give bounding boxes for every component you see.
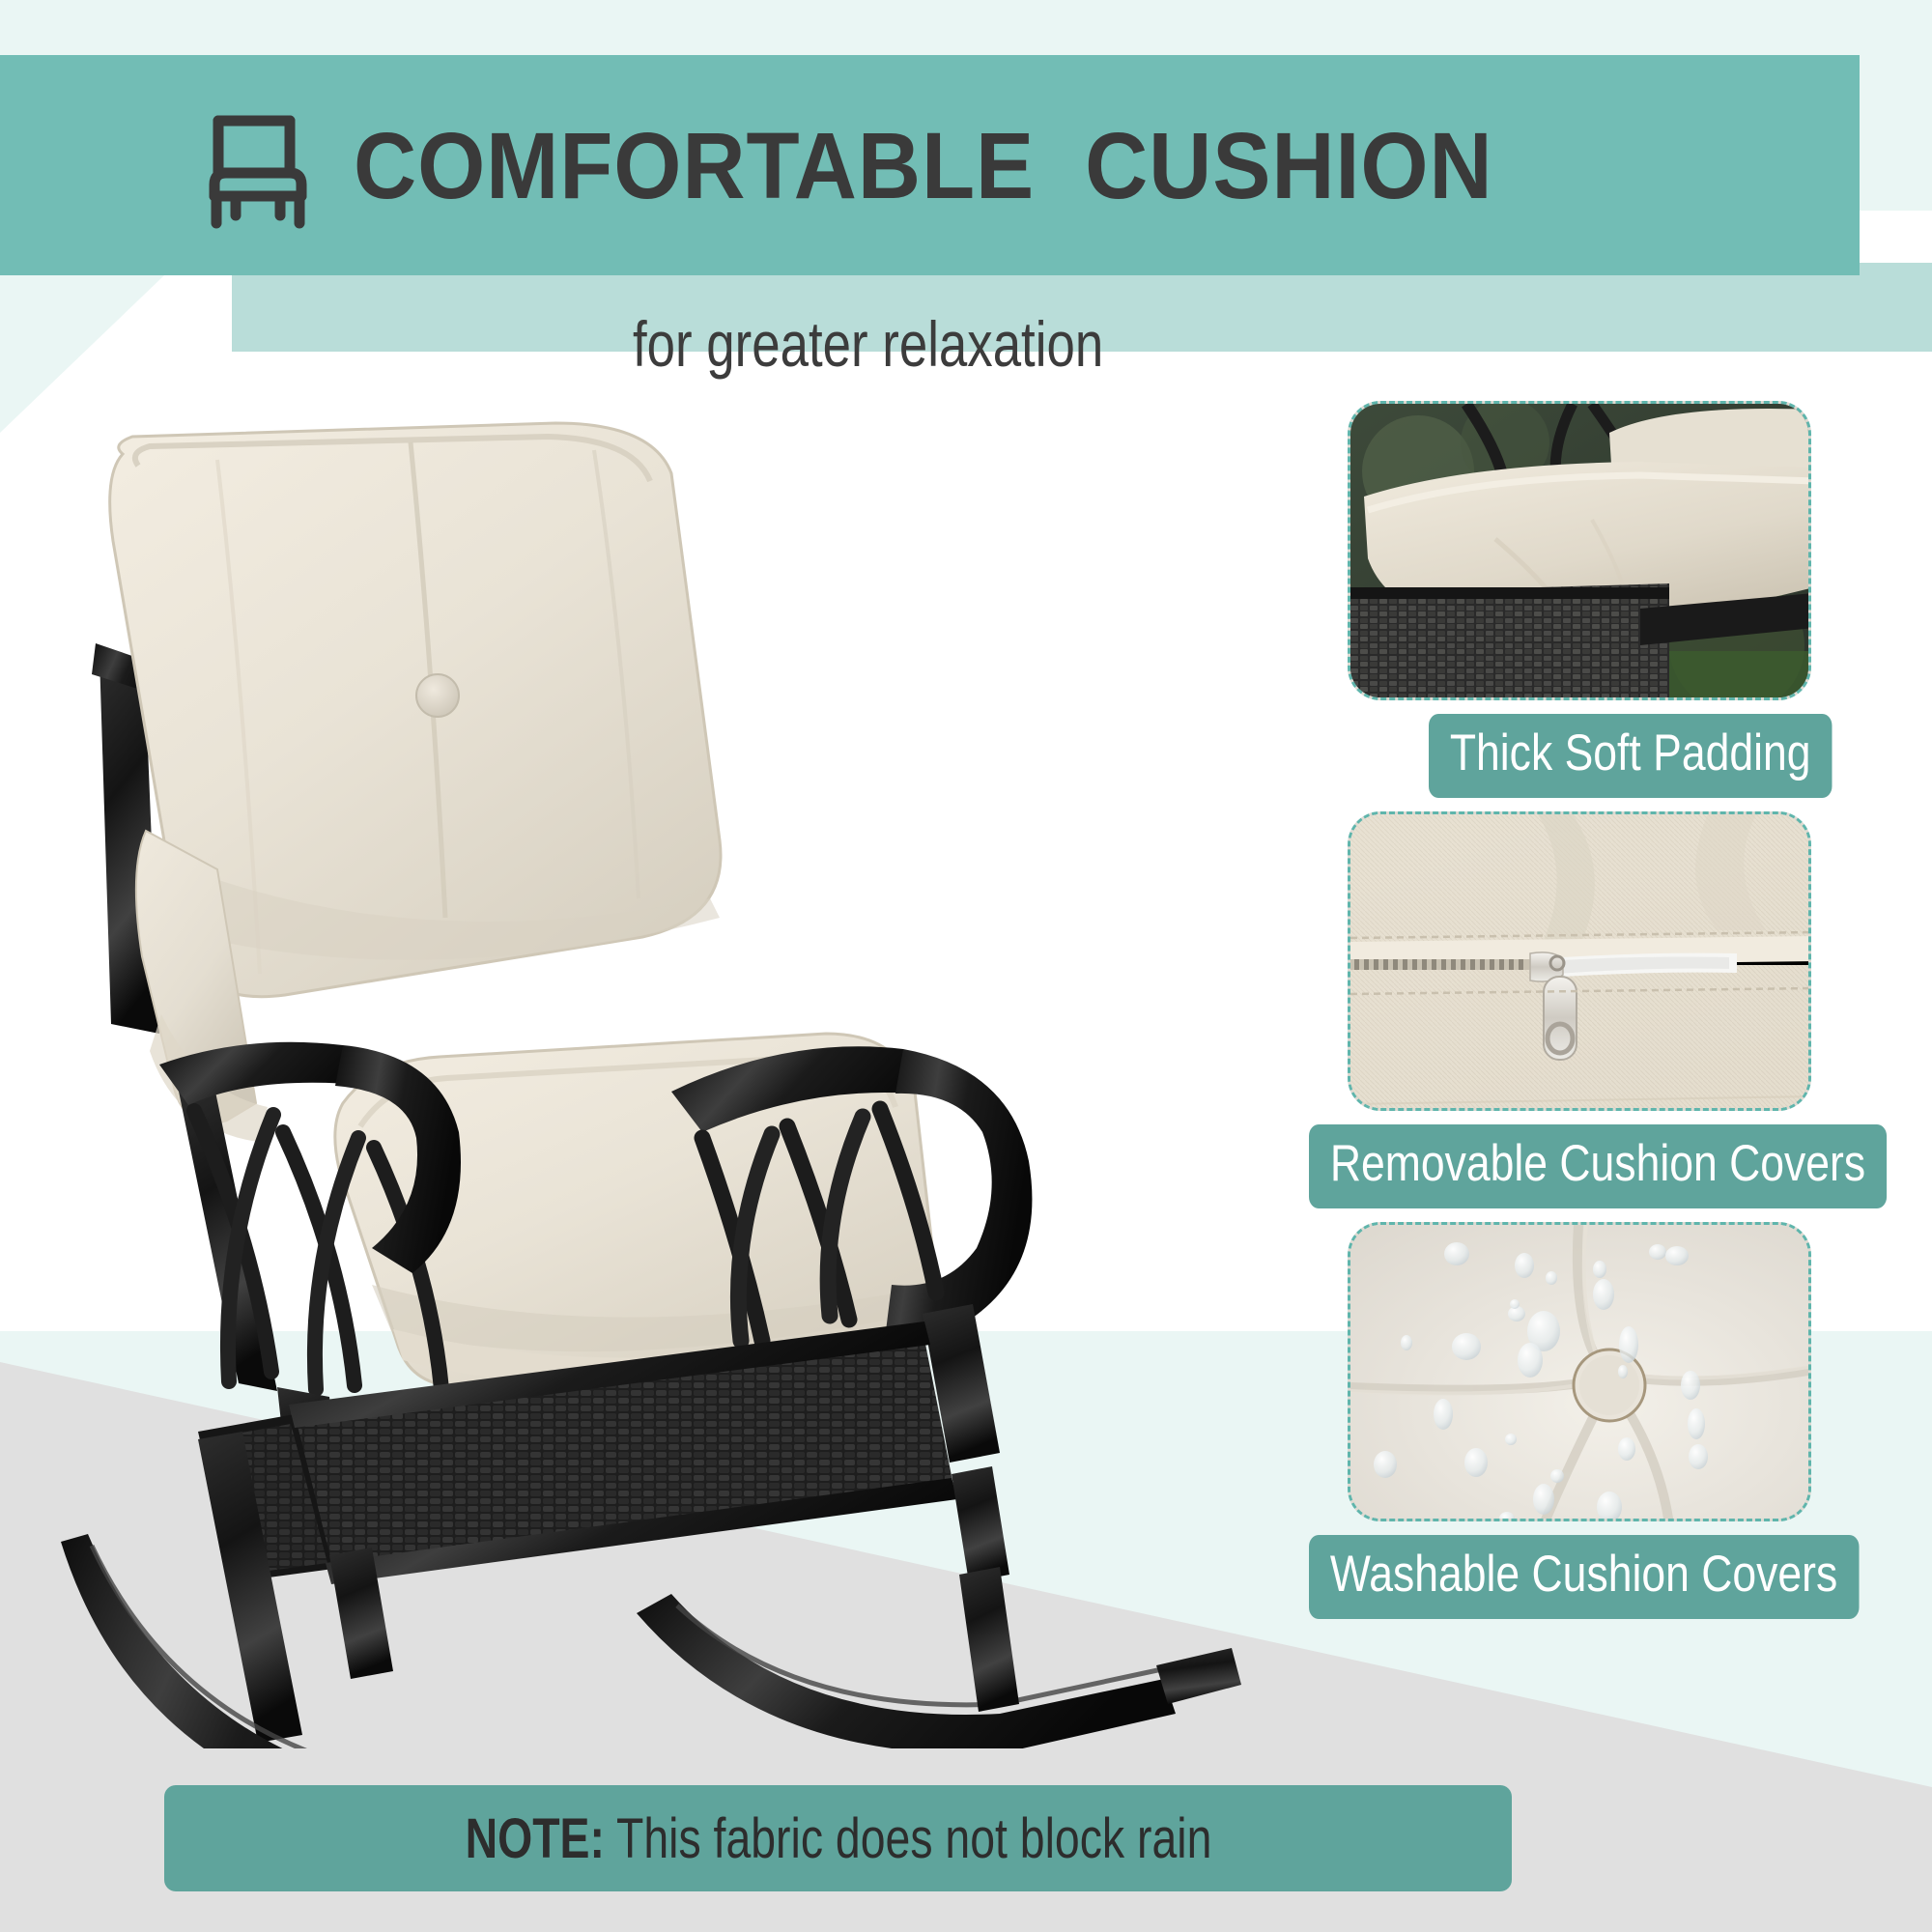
feature-list: Thick Soft Padding: [1328, 401, 1879, 1633]
note-banner: NOTE: This fabric does not block rain: [164, 1785, 1512, 1891]
subtitle: for greater relaxation: [633, 307, 1103, 381]
rocking-chair-illustration: [53, 415, 1290, 1748]
feature-label: Removable Cushion Covers: [1309, 1124, 1887, 1208]
feature-label: Thick Soft Padding: [1429, 714, 1832, 798]
product-image: [53, 415, 1290, 1748]
note-body: This fabric does not block rain: [604, 1807, 1210, 1870]
note-prefix: NOTE:: [465, 1807, 604, 1870]
feature-label: Washable Cushion Covers: [1309, 1535, 1859, 1619]
feature-item: Thick Soft Padding: [1328, 401, 1879, 798]
thick-soft-padding-photo: [1350, 404, 1811, 700]
washable-cushion-covers-photo: [1350, 1225, 1811, 1521]
feature-thumbnail-padding: [1348, 401, 1811, 700]
header-banner: COMFORTABLE CUSHION: [0, 55, 1860, 275]
chair-icon: [207, 101, 309, 229]
removable-cushion-covers-photo: [1350, 814, 1811, 1111]
note-text: NOTE: This fabric does not block rain: [465, 1806, 1211, 1871]
feature-item: Washable Cushion Covers: [1328, 1222, 1879, 1619]
feature-thumbnail-zipper: [1348, 811, 1811, 1111]
page-title: COMFORTABLE CUSHION: [354, 119, 1493, 213]
feature-item: Removable Cushion Covers: [1328, 811, 1879, 1208]
feature-thumbnail-water: [1348, 1222, 1811, 1521]
